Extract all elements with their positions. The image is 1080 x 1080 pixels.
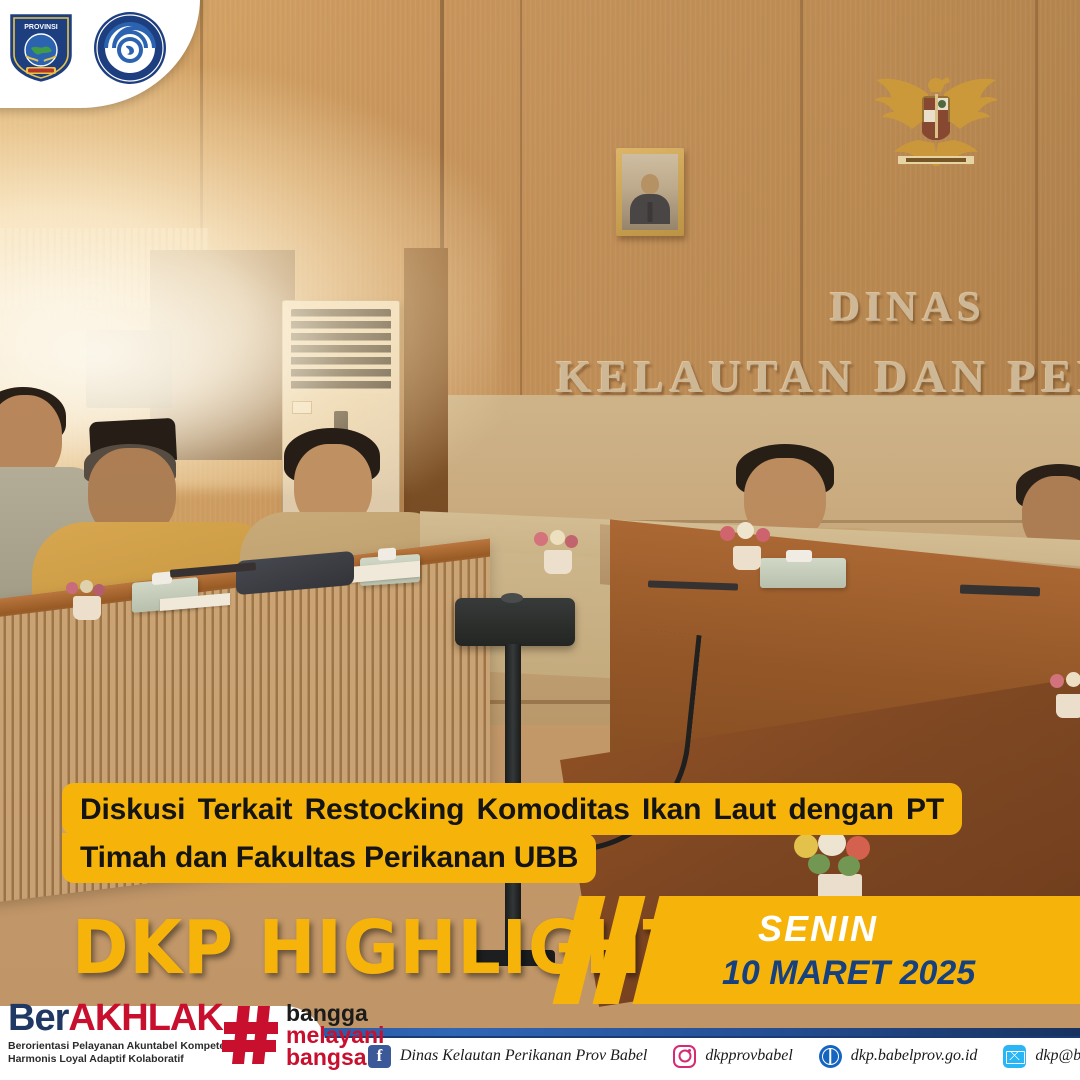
berakhlak-logo: BerAKHLAK Berorientasi Pelayanan Akuntab… (8, 999, 232, 1066)
hashtag-icon (222, 1004, 280, 1066)
flower-vase (530, 530, 586, 574)
garuda-pancasila-emblem (856, 60, 1016, 170)
berakhlak-tagline-line-2: Harmonis Loyal Adaptif Kolaboratif (8, 1053, 232, 1066)
ceiling-projector-on-stand (455, 598, 575, 646)
title-line-2: Timah dan Fakultas Perikanan UBB (62, 833, 596, 883)
flower-vase (62, 580, 112, 620)
projector-lens (501, 593, 523, 603)
website-globe-icon (819, 1045, 842, 1068)
berakhlak-suffix: AKHLAK (68, 997, 222, 1039)
title-line-1-text: Diskusi Terkait Restocking Komoditas Ika… (80, 795, 944, 825)
projector-body (455, 598, 575, 646)
date-day-label: SENIN (758, 908, 878, 950)
bangga-word-1: bangga (286, 1002, 384, 1024)
framed-official-portrait (616, 148, 684, 236)
contact-facebook[interactable]: f Dinas Kelautan Perikanan Prov Babel (368, 1045, 647, 1068)
contact-instagram[interactable]: dkpprovbabel (673, 1045, 792, 1068)
flower-vase (718, 522, 776, 570)
contact-email[interactable]: dkp@babelprov.go.id (1003, 1045, 1080, 1068)
email-icon (1003, 1045, 1026, 1068)
poster-root: DINAS KELAUTAN DAN PER (0, 0, 1080, 1080)
contact-facebook-text: Dinas Kelautan Perikanan Prov Babel (400, 1047, 647, 1065)
berakhlak-tagline: Berorientasi Pelayanan Akuntabel Kompete… (8, 1040, 232, 1066)
bangga-melayani-bangsa-logo: bangga melayani bangsa (222, 1002, 384, 1068)
instagram-icon (673, 1045, 696, 1068)
date-panel: SENIN 10 MARET 2025 (676, 896, 1080, 1004)
svg-text:PROVINSI: PROVINSI (24, 24, 58, 31)
title-banner: Diskusi Terkait Restocking Komoditas Ika… (62, 783, 962, 883)
contact-website-text: dkp.babelprov.go.id (851, 1047, 978, 1065)
berakhlak-prefix: Ber (8, 997, 68, 1039)
date-full-label: 10 MARET 2025 (722, 954, 975, 993)
flower-vase (1048, 672, 1080, 718)
contact-website[interactable]: dkp.babelprov.go.id (819, 1045, 978, 1068)
berakhlak-tagline-line-1: Berorientasi Pelayanan Akuntabel Kompete… (8, 1040, 232, 1053)
portrait-head (641, 174, 659, 194)
dinas-kelautan-dan-perikanan-seal-icon (92, 10, 168, 86)
footer-contacts: f Dinas Kelautan Perikanan Prov Babel dk… (368, 1038, 1068, 1074)
portrait-tie (648, 202, 653, 222)
berakhlak-wordmark: BerAKHLAK (8, 999, 232, 1037)
title-line-1: Diskusi Terkait Restocking Komoditas Ika… (62, 783, 962, 835)
facebook-icon: f (368, 1045, 391, 1068)
provinsi-kepulauan-bangka-belitung-shield-icon: PROVINSI (6, 10, 76, 86)
contact-instagram-text: dkpprovbabel (705, 1047, 792, 1065)
contact-email-text: dkp@babelprov.go.id (1035, 1047, 1080, 1065)
